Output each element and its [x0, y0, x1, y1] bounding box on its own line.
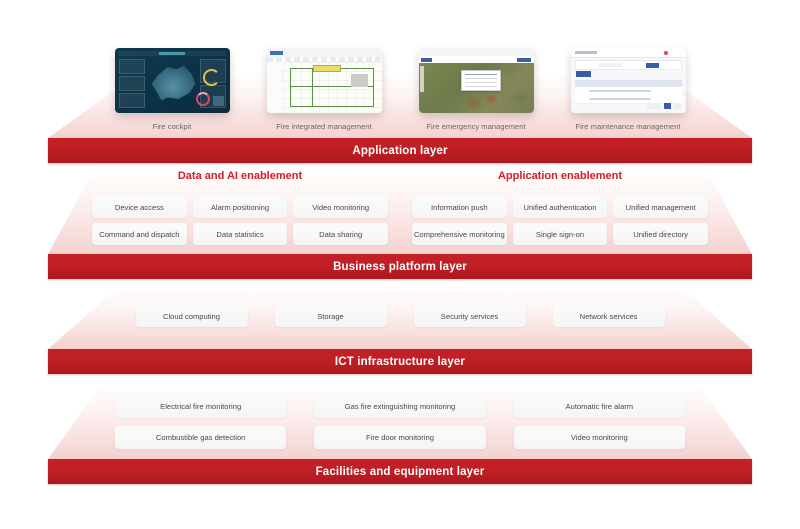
facility-combustible-gas-detection[interactable]: Combustible gas detection [115, 426, 286, 449]
app-card-fire-emergency-management[interactable]: Fire emergency management [419, 48, 534, 131]
app-caption: Fire integrated management [276, 122, 371, 131]
capability-alarm-positioning[interactable]: Alarm positioning [193, 196, 288, 218]
group-data-and-ai-enablement: Data and AI enablement Device access Ala… [92, 170, 388, 245]
group-application-enablement: Application enablement Information push … [412, 170, 708, 245]
dashboard-dark-map-thumbnail [115, 48, 230, 113]
capability-unified-directory[interactable]: Unified directory [613, 223, 708, 245]
capability-comprehensive-monitoring[interactable]: Comprehensive monitoring [412, 223, 507, 245]
ict-infrastructure-layer-bar: ICT infrastructure layer [48, 349, 752, 374]
business-platform-content: Data and AI enablement Device access Ala… [0, 170, 800, 245]
business-platform-layer-bar: Business platform layer [48, 254, 752, 279]
cad-floorplan-thumbnail [267, 48, 382, 113]
application-layer-bar: Application layer [48, 138, 752, 163]
facility-electrical-fire-monitoring[interactable]: Electrical fire monitoring [115, 395, 286, 418]
capability-command-and-dispatch[interactable]: Command and dispatch [92, 223, 187, 245]
group-title: Data and AI enablement [92, 170, 388, 182]
admin-table-thumbnail [571, 48, 686, 113]
architecture-diagram: Fire cockpit Fire integrated management [0, 0, 800, 529]
app-card-fire-maintenance-management[interactable]: Fire maintenance management [571, 48, 686, 131]
capability-data-statistics[interactable]: Data statistics [193, 223, 288, 245]
capability-unified-management[interactable]: Unified management [613, 196, 708, 218]
app-card-fire-cockpit[interactable]: Fire cockpit [115, 48, 230, 131]
facility-automatic-fire-alarm[interactable]: Automatic fire alarm [514, 395, 685, 418]
facility-gas-fire-extinguishing-monitoring[interactable]: Gas fire extinguishing monitoring [314, 395, 485, 418]
app-caption: Fire maintenance management [575, 122, 680, 131]
infrastructure-network-services[interactable]: Network services [553, 305, 665, 327]
app-caption: Fire cockpit [153, 122, 192, 131]
infrastructure-storage[interactable]: Storage [275, 305, 387, 327]
capability-single-sign-on[interactable]: Single sign-on [513, 223, 608, 245]
infrastructure-cloud-computing[interactable]: Cloud computing [136, 305, 248, 327]
facility-video-monitoring[interactable]: Video monitoring [514, 426, 685, 449]
infrastructure-security-services[interactable]: Security services [414, 305, 526, 327]
facilities-equipment-layer-bar-label: Facilities and equipment layer [316, 466, 485, 478]
ict-infrastructure-content: Cloud computing Storage Security service… [0, 305, 800, 327]
satellite-map-thumbnail [419, 48, 534, 113]
capability-information-push[interactable]: Information push [412, 196, 507, 218]
facility-fire-door-monitoring[interactable]: Fire door monitoring [314, 426, 485, 449]
ict-infrastructure-layer-bar-label: ICT infrastructure layer [335, 356, 465, 368]
application-layer-bar-label: Application layer [352, 145, 447, 157]
app-card-fire-integrated-management[interactable]: Fire integrated management [267, 48, 382, 131]
facilities-equipment-layer-bar: Facilities and equipment layer [48, 459, 752, 484]
application-thumbnails: Fire cockpit Fire integrated management [0, 48, 800, 131]
capability-video-monitoring[interactable]: Video monitoring [293, 196, 388, 218]
capability-device-access[interactable]: Device access [92, 196, 187, 218]
business-platform-layer-bar-label: Business platform layer [333, 261, 467, 273]
group-title: Application enablement [412, 170, 708, 182]
capability-data-sharing[interactable]: Data sharing [293, 223, 388, 245]
app-caption: Fire emergency management [426, 122, 525, 131]
facilities-equipment-content: Electrical fire monitoring Gas fire exti… [0, 395, 800, 449]
capability-unified-authentication[interactable]: Unified authentication [513, 196, 608, 218]
